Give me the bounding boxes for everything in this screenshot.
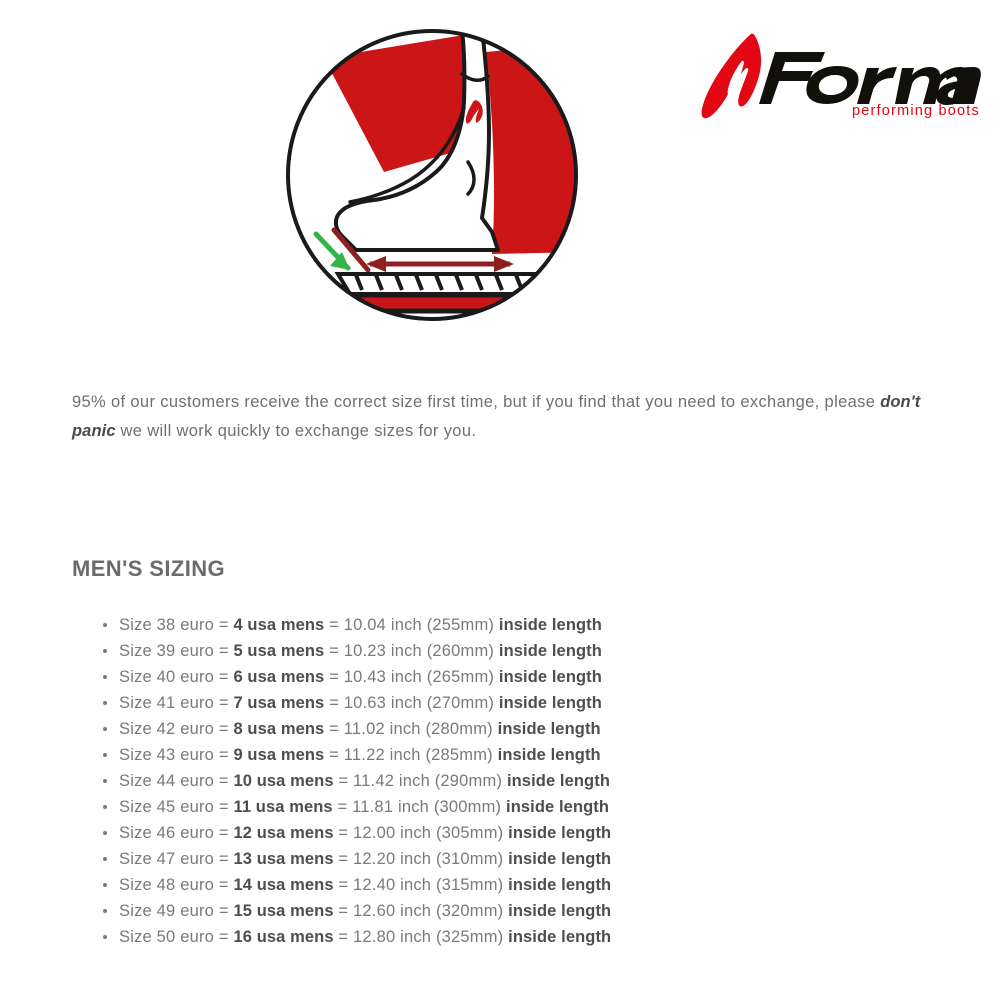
- size-equals: =: [334, 850, 353, 868]
- diagram-contents: Inside length: [286, 22, 578, 327]
- size-mm: (265mm): [427, 668, 499, 686]
- size-inch: 10.04 inch: [344, 616, 427, 634]
- size-inch: 12.20 inch: [353, 850, 436, 868]
- size-list-item: Size 49 euro = 15 usa mens = 12.60 inch …: [100, 898, 900, 924]
- mens-size-list: Size 38 euro = 4 usa mens = 10.04 inch (…: [100, 612, 900, 950]
- size-inch: 11.22 inch: [344, 746, 426, 764]
- size-inch: 11.42 inch: [353, 772, 435, 790]
- intro-paragraph: 95% of our customers receive the correct…: [72, 388, 962, 446]
- size-equals: =: [324, 746, 343, 764]
- size-inch: 10.43 inch: [344, 668, 427, 686]
- size-inch: 12.60 inch: [353, 902, 436, 920]
- size-list-item: Size 39 euro = 5 usa mens = 10.23 inch (…: [100, 638, 900, 664]
- size-list-item: Size 50 euro = 16 usa mens = 12.80 inch …: [100, 924, 900, 950]
- size-euro: Size 46 euro =: [119, 824, 233, 842]
- size-list-item: Size 44 euro = 10 usa mens = 11.42 inch …: [100, 768, 900, 794]
- foot-diagram-svg: Inside length: [286, 22, 578, 327]
- size-mm: (285mm): [425, 746, 497, 764]
- size-list-item: Size 38 euro = 4 usa mens = 10.04 inch (…: [100, 612, 900, 638]
- size-inch: 10.63 inch: [344, 694, 427, 712]
- size-suffix: inside length: [499, 694, 602, 712]
- size-list-item: Size 43 euro = 9 usa mens = 11.22 inch (…: [100, 742, 900, 768]
- size-usa-mens: 5 usa mens: [233, 642, 324, 660]
- size-suffix: inside length: [498, 720, 601, 738]
- size-equals: =: [334, 824, 353, 842]
- size-suffix: inside length: [508, 824, 611, 842]
- size-suffix: inside length: [498, 746, 601, 764]
- size-equals: =: [324, 668, 343, 686]
- size-equals: =: [334, 772, 353, 790]
- foot-measurement-illustration: Inside length: [286, 22, 578, 327]
- size-list-item: Size 46 euro = 12 usa mens = 12.00 inch …: [100, 820, 900, 846]
- forma-logo-svg: performing boots: [697, 32, 982, 120]
- size-equals: =: [334, 902, 353, 920]
- size-euro: Size 49 euro =: [119, 902, 233, 920]
- size-euro: Size 41 euro =: [119, 694, 233, 712]
- size-usa-mens: 12 usa mens: [233, 824, 333, 842]
- size-mm: (255mm): [427, 616, 499, 634]
- size-usa-mens: 10 usa mens: [233, 772, 333, 790]
- size-mm: (320mm): [436, 902, 508, 920]
- size-mm: (260mm): [427, 642, 499, 660]
- size-euro: Size 50 euro =: [119, 928, 233, 946]
- size-list-item: Size 45 euro = 11 usa mens = 11.81 inch …: [100, 794, 900, 820]
- size-euro: Size 43 euro =: [119, 746, 233, 764]
- size-equals: =: [324, 720, 343, 738]
- size-usa-mens: 9 usa mens: [233, 746, 324, 764]
- size-suffix: inside length: [499, 668, 602, 686]
- forma-logo: performing boots: [697, 32, 982, 120]
- size-inch: 12.40 inch: [353, 876, 436, 894]
- mens-sizing-heading: MEN'S SIZING: [72, 556, 225, 582]
- size-usa-mens: 7 usa mens: [233, 694, 324, 712]
- size-suffix: inside length: [508, 928, 611, 946]
- size-mm: (290mm): [435, 772, 507, 790]
- size-mm: (325mm): [436, 928, 508, 946]
- size-chart-page: performing boots: [0, 0, 1000, 1000]
- size-usa-mens: 8 usa mens: [233, 720, 324, 738]
- size-usa-mens: 6 usa mens: [233, 668, 324, 686]
- size-suffix: inside length: [506, 798, 609, 816]
- size-inch: 10.23 inch: [344, 642, 427, 660]
- size-suffix: inside length: [508, 902, 611, 920]
- size-equals: =: [324, 642, 343, 660]
- size-mm: (315mm): [436, 876, 508, 894]
- size-usa-mens: 4 usa mens: [233, 616, 324, 634]
- size-euro: Size 42 euro =: [119, 720, 233, 738]
- size-mm: (280mm): [425, 720, 497, 738]
- size-inch: 11.02 inch: [344, 720, 426, 738]
- size-list-item: Size 48 euro = 14 usa mens = 12.40 inch …: [100, 872, 900, 898]
- size-usa-mens: 14 usa mens: [233, 876, 333, 894]
- intro-text-part1: 95% of our customers receive the correct…: [72, 393, 880, 411]
- size-list-item: Size 47 euro = 13 usa mens = 12.20 inch …: [100, 846, 900, 872]
- size-euro: Size 45 euro =: [119, 798, 233, 816]
- size-usa-mens: 16 usa mens: [233, 928, 333, 946]
- size-euro: Size 38 euro =: [119, 616, 233, 634]
- size-suffix: inside length: [507, 772, 610, 790]
- size-inch: 11.81 inch: [352, 798, 434, 816]
- forma-wordmark: [759, 52, 981, 105]
- size-usa-mens: 11 usa mens: [233, 798, 332, 816]
- size-equals: =: [324, 694, 343, 712]
- size-usa-mens: 13 usa mens: [233, 850, 333, 868]
- size-mm: (310mm): [436, 850, 508, 868]
- size-euro: Size 40 euro =: [119, 668, 233, 686]
- forma-tagline: performing boots: [852, 103, 980, 119]
- size-inch: 12.80 inch: [353, 928, 436, 946]
- size-list-item: Size 40 euro = 6 usa mens = 10.43 inch (…: [100, 664, 900, 690]
- size-mm: (270mm): [427, 694, 499, 712]
- size-suffix: inside length: [508, 876, 611, 894]
- forma-swoosh-icon: [702, 34, 761, 119]
- intro-text-part2: we will work quickly to exchange sizes f…: [116, 422, 477, 440]
- size-equals: =: [333, 798, 352, 816]
- size-euro: Size 47 euro =: [119, 850, 233, 868]
- size-euro: Size 48 euro =: [119, 876, 233, 894]
- size-mm: (305mm): [436, 824, 508, 842]
- size-suffix: inside length: [508, 850, 611, 868]
- size-equals: =: [324, 616, 343, 634]
- size-suffix: inside length: [499, 616, 602, 634]
- size-list-item: Size 41 euro = 7 usa mens = 10.63 inch (…: [100, 690, 900, 716]
- size-equals: =: [334, 876, 353, 894]
- size-suffix: inside length: [499, 642, 602, 660]
- size-inch: 12.00 inch: [353, 824, 436, 842]
- size-equals: =: [334, 928, 353, 946]
- size-euro: Size 39 euro =: [119, 642, 233, 660]
- insole-ruler: [338, 274, 558, 320]
- size-euro: Size 44 euro =: [119, 772, 233, 790]
- size-usa-mens: 15 usa mens: [233, 902, 333, 920]
- size-mm: (300mm): [434, 798, 506, 816]
- size-list-item: Size 42 euro = 8 usa mens = 11.02 inch (…: [100, 716, 900, 742]
